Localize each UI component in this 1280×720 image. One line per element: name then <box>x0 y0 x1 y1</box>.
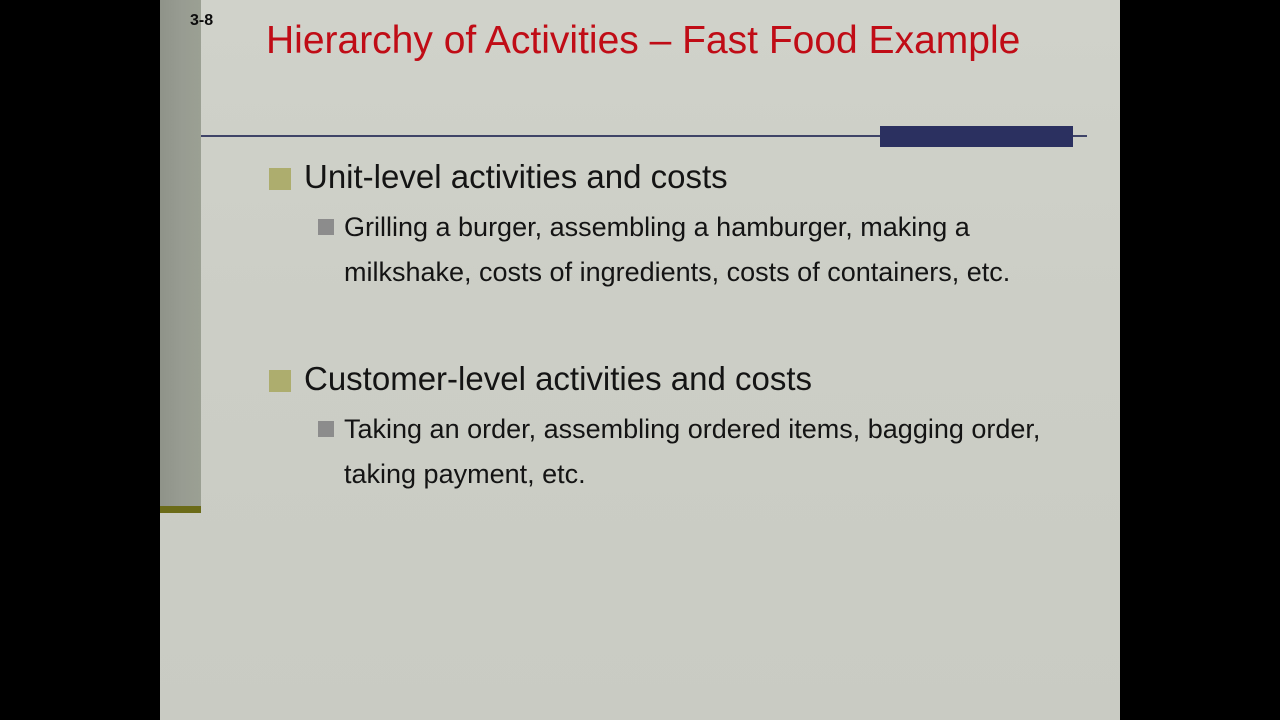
left-decorative-bar-cap <box>160 506 201 513</box>
bullet-level2-customer-level: Taking an order, assembling ordered item… <box>160 407 1120 497</box>
bullet-group-customer-level: Customer-level activities and costs Taki… <box>160 357 1120 497</box>
bullet-group-unit-level: Unit-level activities and costs Grilling… <box>160 155 1120 295</box>
bullet-level2-unit-level: Grilling a burger, assembling a hamburge… <box>160 205 1120 295</box>
square-bullet-icon <box>318 421 334 437</box>
square-bullet-icon <box>269 168 291 190</box>
square-bullet-icon <box>269 370 291 392</box>
bullet-level1-customer-level: Customer-level activities and costs <box>160 357 1120 401</box>
bullet-level2-label: Taking an order, assembling ordered item… <box>344 407 1060 497</box>
group-spacer <box>160 295 1120 357</box>
bullet-level1-label: Customer-level activities and costs <box>304 357 812 401</box>
title-accent-block <box>880 126 1073 147</box>
slide-body: Unit-level activities and costs Grilling… <box>160 155 1120 497</box>
slide-title: Hierarchy of Activities – Fast Food Exam… <box>266 14 1026 67</box>
slide-number: 3-8 <box>190 12 213 30</box>
slide-letterbox-frame: 3-8 Hierarchy of Activities – Fast Food … <box>0 0 1280 720</box>
bullet-level1-unit-level: Unit-level activities and costs <box>160 155 1120 199</box>
square-bullet-icon <box>318 219 334 235</box>
slide-canvas: 3-8 Hierarchy of Activities – Fast Food … <box>160 0 1120 720</box>
bullet-level2-label: Grilling a burger, assembling a hamburge… <box>344 205 1060 295</box>
bullet-level1-label: Unit-level activities and costs <box>304 155 728 199</box>
